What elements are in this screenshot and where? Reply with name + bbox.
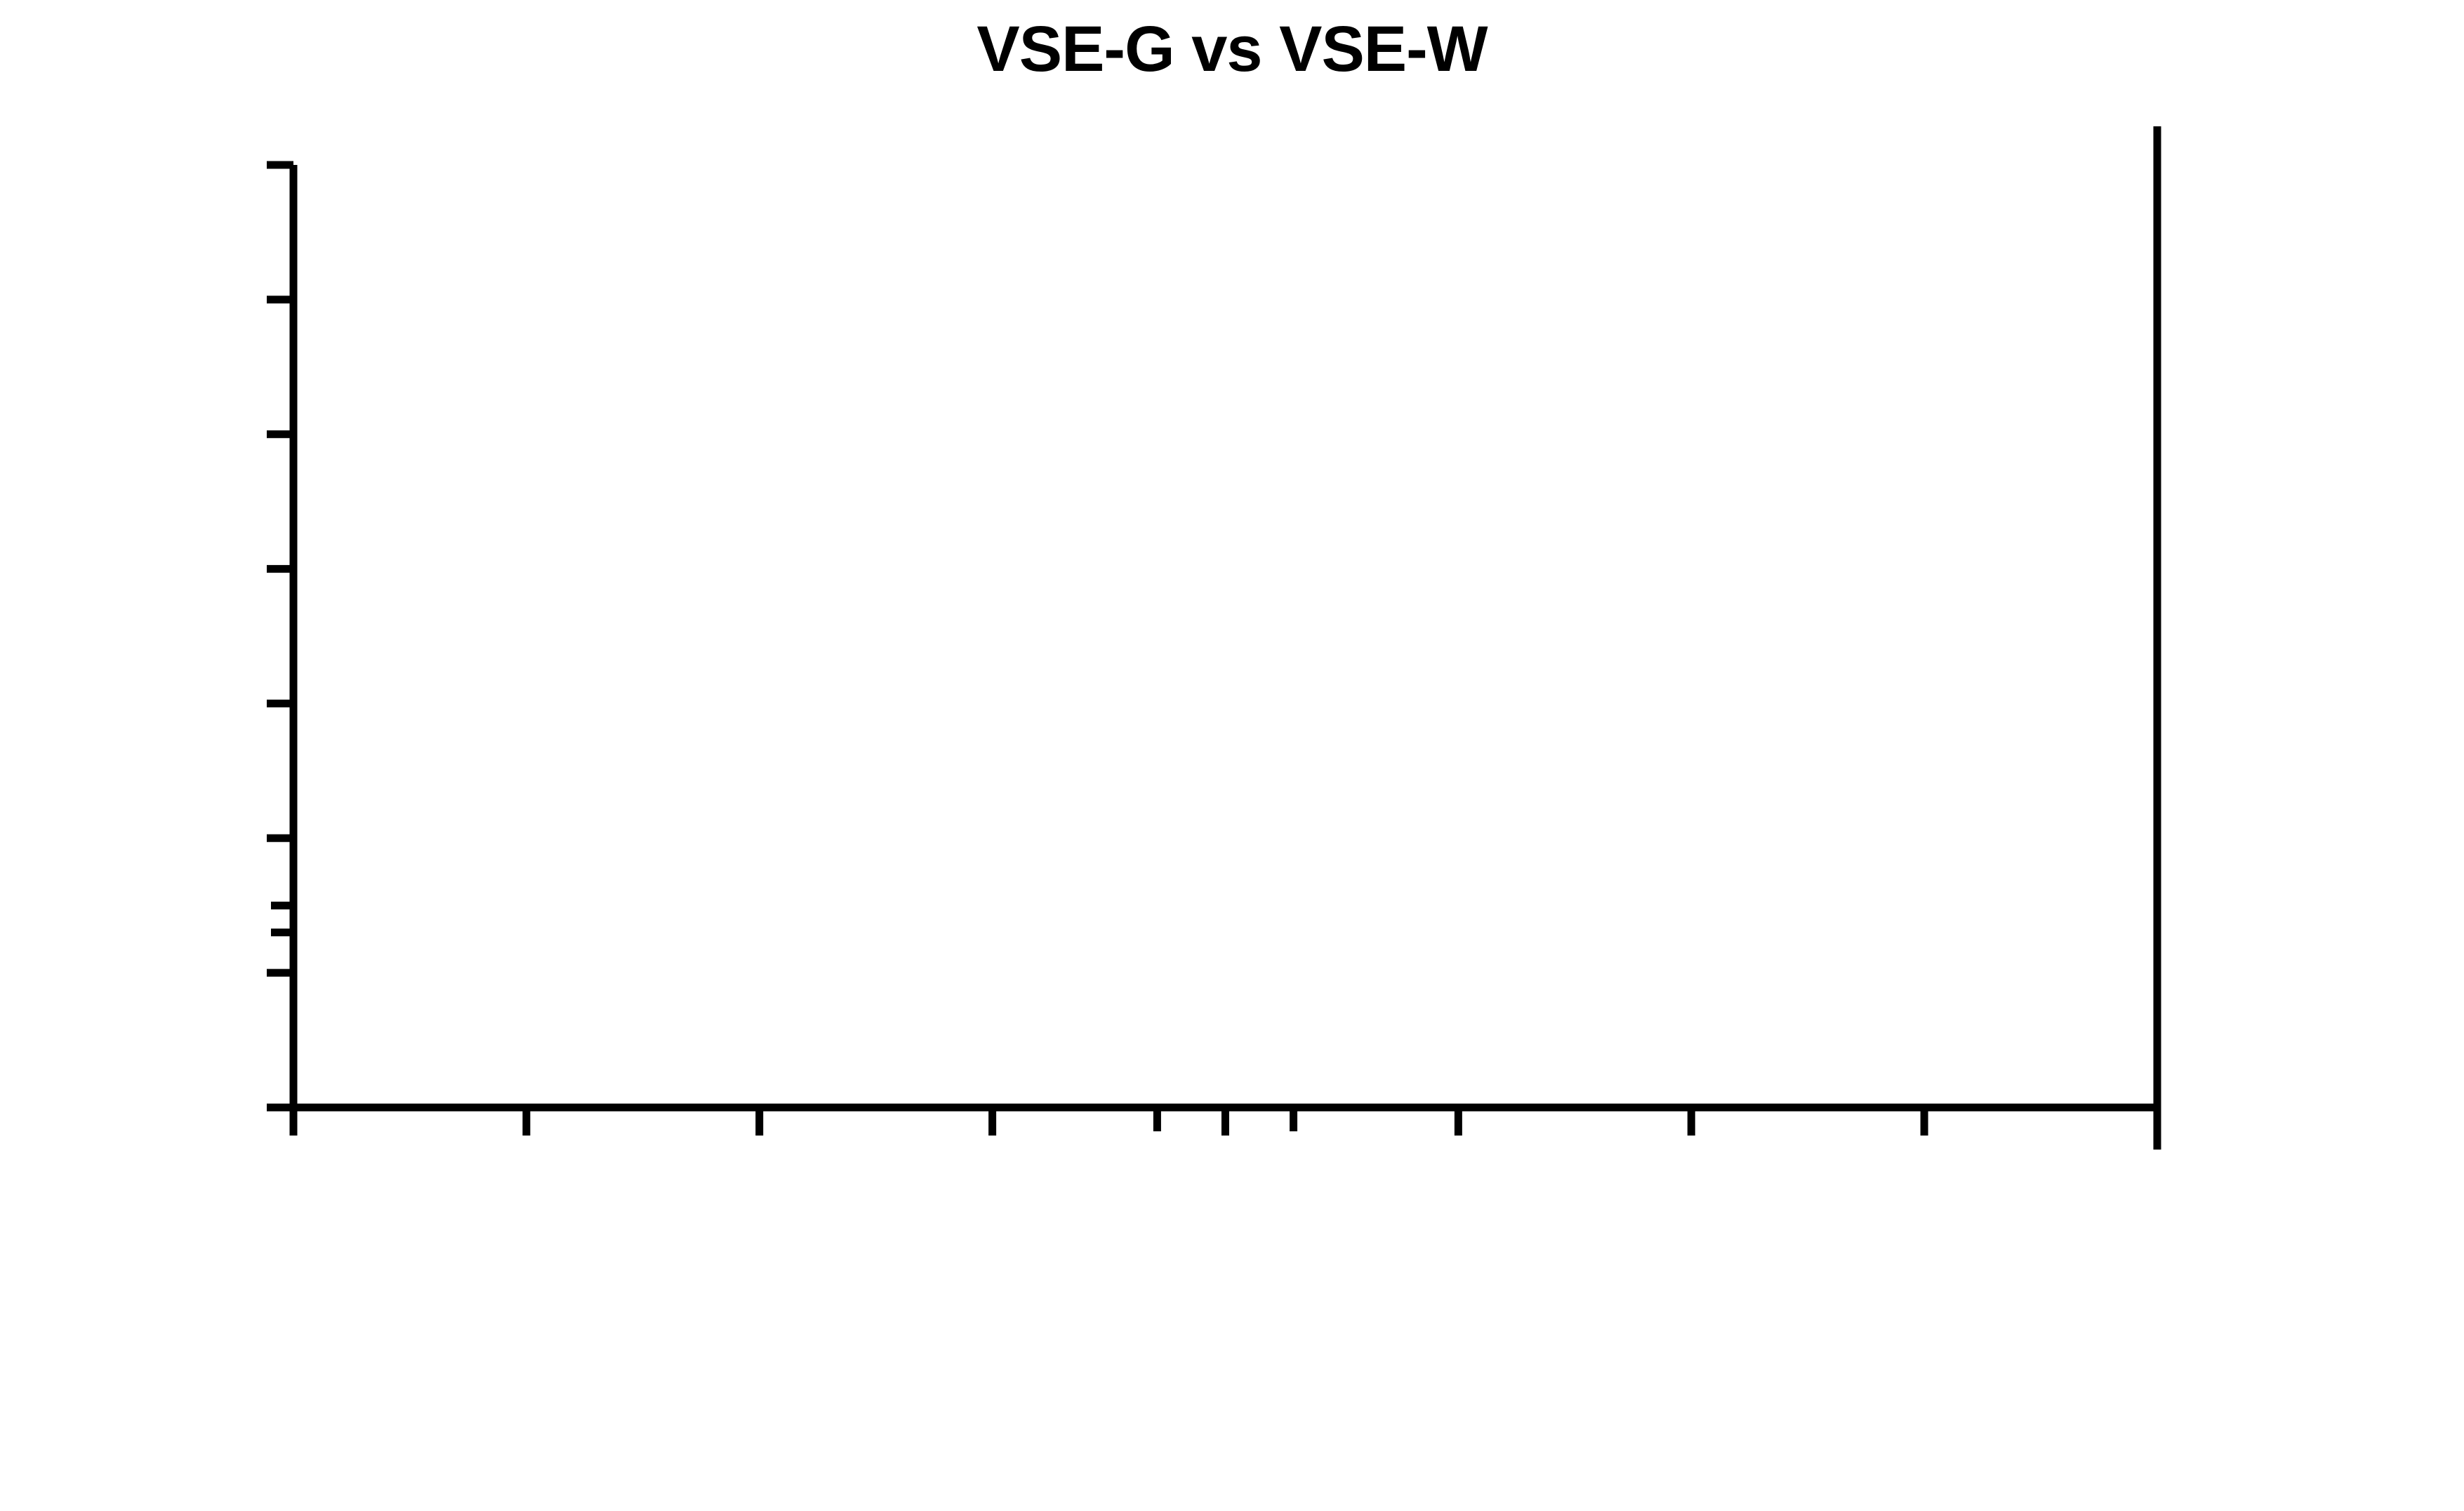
axes-layer bbox=[267, 126, 2157, 1150]
volcano-plot-figure: VSE-G vs VSE-W bbox=[0, 0, 2464, 1511]
plot-canvas bbox=[0, 0, 2464, 1511]
